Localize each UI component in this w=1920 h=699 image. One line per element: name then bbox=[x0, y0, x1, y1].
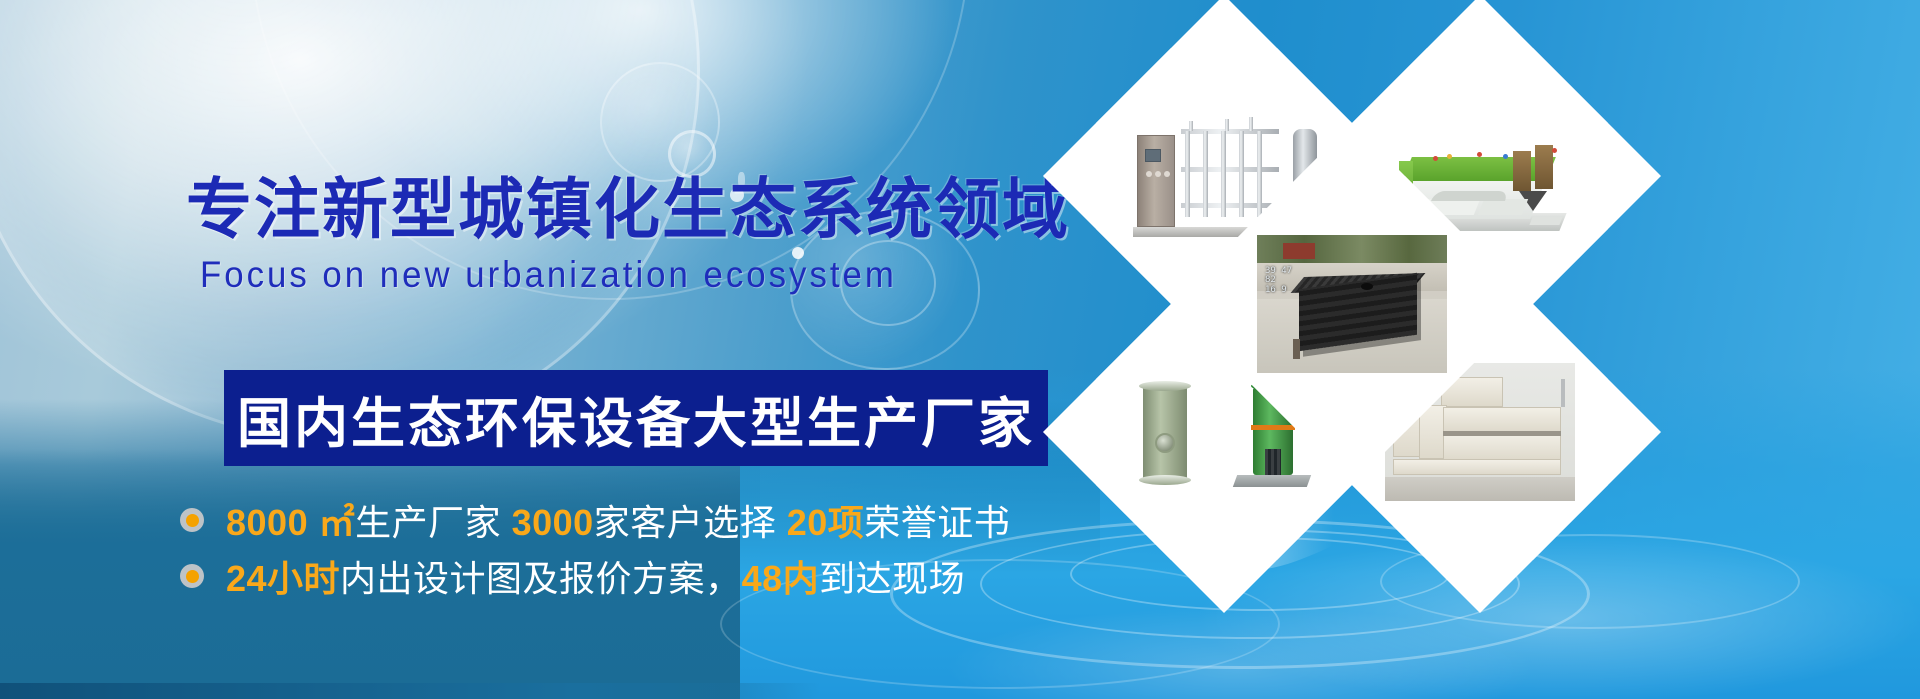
list-item-label: 24小时内出设计图及报价方案，48内到达现场 bbox=[226, 550, 965, 602]
product-diamond-gallery: 39 47 82 16 9 bbox=[1096, 48, 1608, 624]
page-subtitle: Focus on new urbanization ecosystem bbox=[200, 254, 897, 296]
banner-copy-block: 专注新型城镇化生态系统领域 Focus on new urbanization … bbox=[0, 0, 1100, 699]
modular-rainwater-tank-image: 39 47 82 16 9 bbox=[1257, 235, 1447, 373]
highlight-box: 国内生态环保设备大型生产厂家 bbox=[224, 370, 1048, 466]
bullet-dot-icon bbox=[180, 564, 204, 588]
list-item-label: 8000 ㎡生产厂家 3000家客户选择 20项荣誉证书 bbox=[226, 494, 1010, 546]
highlight-box-label: 国内生态环保设备大型生产厂家 bbox=[237, 379, 1035, 458]
list-item: 8000 ㎡生产厂家 3000家客户选择 20项荣誉证书 bbox=[180, 492, 1010, 548]
photo-timestamp-overlay: 39 47 82 16 9 bbox=[1265, 267, 1292, 295]
list-item: 24小时内出设计图及报价方案，48内到达现场 bbox=[180, 548, 1010, 604]
page-title: 专注新型城镇化生态系统领域 bbox=[186, 176, 1070, 242]
feature-bullet-list: 8000 ㎡生产厂家 3000家客户选择 20项荣誉证书 24小时内出设计图及报… bbox=[180, 492, 1010, 604]
hero-banner: 专注新型城镇化生态系统领域 Focus on new urbanization … bbox=[0, 0, 1920, 699]
bullet-dot-icon bbox=[180, 508, 204, 532]
